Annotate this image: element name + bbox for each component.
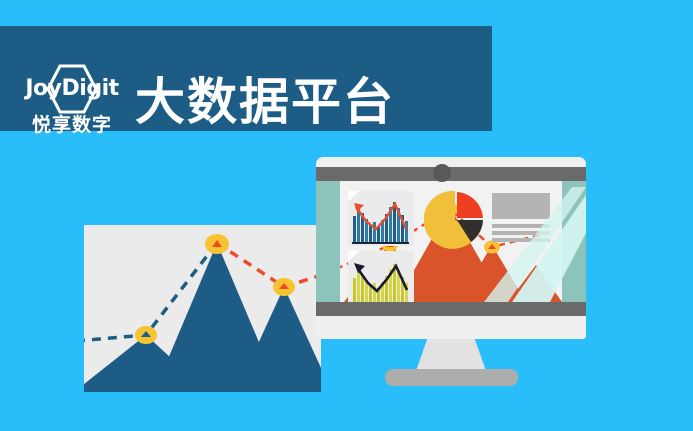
orange-peak-right	[508, 265, 562, 302]
monitor-stand-neck	[416, 339, 486, 371]
header-bar: JoyDigit 悦享数字 大数据平台	[0, 26, 492, 131]
text-block-placeholder	[492, 193, 550, 243]
text-rule	[492, 231, 550, 235]
axis-baseline	[352, 242, 409, 244]
screen-band-left	[316, 181, 340, 302]
blue-bar-line-card[interactable]	[348, 191, 414, 246]
brand-logo: JoyDigit 悦享数字	[18, 62, 126, 146]
screen-band-right	[562, 181, 586, 302]
monitor-screen[interactable]	[316, 181, 586, 302]
monitor-power-dot[interactable]	[433, 164, 451, 182]
text-rule	[492, 224, 550, 228]
logo-chinese-name: 悦享数字	[18, 110, 126, 137]
image-placeholder-block	[492, 193, 550, 219]
monitor-stand-base	[385, 369, 518, 386]
pie-chart[interactable]	[424, 189, 486, 251]
logo-wordmark: JoyDigit	[18, 76, 126, 101]
desktop-monitor	[316, 157, 586, 339]
monitor-bottom-bezel	[316, 302, 586, 316]
text-rule	[492, 238, 550, 242]
analytics-mountain-panel	[84, 225, 321, 392]
dashboard-content	[340, 181, 562, 302]
mountain-chart-svg	[84, 225, 321, 392]
page-title: 大数据平台	[135, 74, 395, 130]
pie-slice-red	[457, 192, 483, 218]
olive-bar-line-card[interactable]	[348, 251, 414, 302]
poster-canvas: JoyDigit 悦享数字 大数据平台	[0, 0, 693, 431]
monitor-top-bezel	[316, 167, 586, 181]
